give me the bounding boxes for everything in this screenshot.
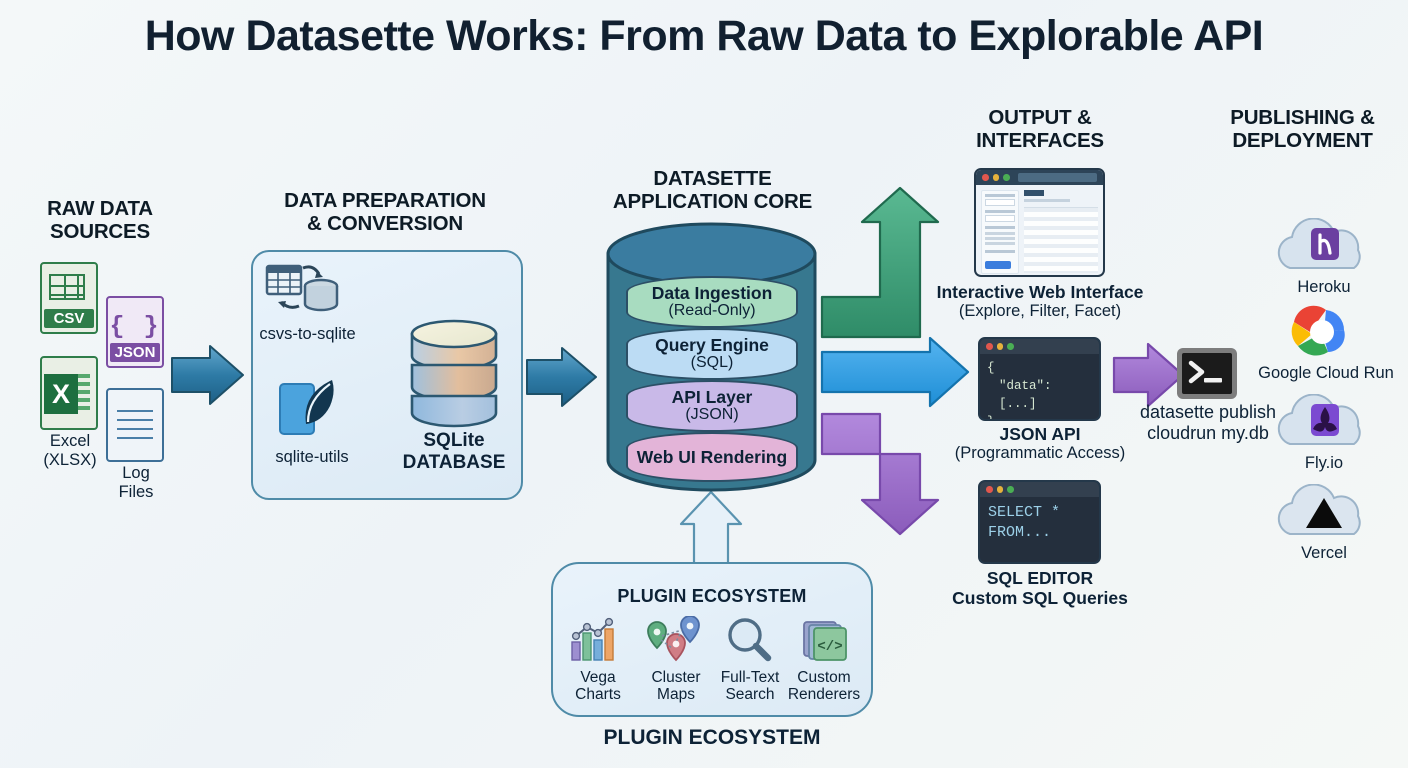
heroku-cloud-icon [1264, 218, 1384, 276]
maximize-dot-icon [1003, 174, 1010, 181]
flow-arrow-core-to-json [822, 338, 968, 406]
sql-editor-label: SQL EDITOR Custom SQL Queries [940, 568, 1140, 608]
maximize-dot-icon [1007, 486, 1014, 493]
log-file-icon [106, 388, 164, 462]
json-code-block: { "data": [...] } [980, 354, 1099, 421]
platform-label: Fly.io [1264, 454, 1384, 473]
flow-arrow-core-to-web-elbow [822, 215, 900, 297]
diagram-canvas: How Datasette Works: From Raw Data to Ex… [0, 0, 1408, 768]
platform-heroku[interactable]: Heroku [1264, 218, 1384, 297]
sqlite-utils-label: sqlite-utils [252, 448, 372, 467]
json-file-icon: { } JSON [106, 296, 164, 368]
core-layer-api: API Layer (JSON) [626, 380, 798, 432]
log-lines-glyph [117, 410, 153, 444]
flow-arrow-plugins-to-core [681, 492, 741, 573]
flow-arrow-core-to-sql [822, 414, 938, 534]
flow-arrow-prep-to-core [527, 348, 596, 406]
core-layer-web-ui: Web UI Rendering [626, 432, 798, 482]
json-api-label: JSON API (Programmatic Access) [930, 424, 1150, 463]
excel-file-icon: X [40, 356, 98, 430]
plugin-item-full-text-search[interactable]: Full-Text Search [708, 616, 792, 703]
results-table [1024, 190, 1098, 274]
code-stack-icon: </> [782, 616, 866, 666]
database-cylinder-icon [404, 312, 504, 432]
page-title: How Datasette Works: From Raw Data to Ex… [0, 12, 1408, 61]
cluster-map-pin-icon [634, 616, 718, 666]
plugin-label: Cluster Maps [634, 669, 718, 703]
section-heading-raw: RAW DATA SOURCES [10, 198, 190, 244]
magnifier-icon [708, 616, 792, 666]
close-dot-icon [982, 174, 989, 181]
plugin-label: Vega Charts [556, 669, 640, 703]
core-layer-data-ingestion: Data Ingestion (Read-Only) [626, 276, 798, 328]
maximize-dot-icon [1007, 343, 1014, 350]
plugin-label: Custom Renderers [782, 669, 866, 703]
web-interface-window-icon[interactable] [974, 168, 1105, 277]
section-heading-core: DATASETTE APPLICATION CORE [595, 168, 830, 214]
flow-arrow-json-to-publish [1114, 344, 1183, 406]
flyio-cloud-icon [1264, 394, 1384, 452]
window-body [976, 185, 1103, 277]
sql-window-titlebar [980, 482, 1099, 497]
terminal-prompt-icon[interactable] [1177, 348, 1237, 399]
minimize-dot-icon [997, 343, 1004, 350]
json-braces-glyph: { } [106, 312, 164, 341]
platform-label: Heroku [1264, 278, 1384, 297]
json-api-terminal-icon[interactable]: { "data": [...] } [978, 337, 1101, 421]
json-window-titlebar [980, 339, 1099, 354]
address-bar[interactable] [1018, 173, 1098, 182]
section-heading-prep: DATA PREPARATION & CONVERSION [260, 190, 510, 236]
plugin-panel-heading: PLUGIN ECOSYSTEM [551, 586, 873, 607]
terminal-screen [1182, 353, 1232, 394]
close-dot-icon [986, 486, 993, 493]
csv-file-icon: CSV [40, 262, 98, 334]
plugin-item-vega-charts[interactable]: Vega Charts [556, 616, 640, 703]
excel-x-glyph: X [44, 374, 78, 414]
json-file-tag: JSON [110, 343, 160, 362]
csv-grid-glyph [49, 274, 85, 300]
platform-google-cloud-run[interactable]: Google Cloud Run [1246, 302, 1406, 383]
platform-vercel[interactable]: Vercel [1264, 484, 1384, 563]
vercel-cloud-icon [1264, 484, 1384, 542]
core-layer-query-engine: Query Engine (SQL) [626, 328, 798, 380]
sql-editor-window-icon[interactable]: SELECT * FROM... [978, 480, 1101, 564]
table-to-database-icon [265, 262, 347, 320]
csvs-to-sqlite-label: csvs-to-sqlite [250, 325, 365, 344]
plugin-label: Full-Text Search [708, 669, 792, 703]
csv-file-tag: CSV [44, 309, 94, 328]
sqlite-feather-icon [278, 378, 346, 440]
vega-chart-icon [556, 616, 640, 666]
plugin-item-cluster-maps[interactable]: Cluster Maps [634, 616, 718, 703]
svg-text:</>: </> [817, 639, 842, 655]
platform-label: Google Cloud Run [1246, 364, 1406, 383]
google-cloud-icon [1246, 302, 1406, 362]
section-heading-output: OUTPUT & INTERFACES [930, 107, 1150, 153]
minimize-dot-icon [997, 486, 1004, 493]
section-heading-publish: PUBLISHING & DEPLOYMENT [1200, 107, 1405, 153]
core-layer-stack: Data Ingestion (Read-Only) Query Engine … [626, 276, 798, 482]
flow-arrow-core-to-web [822, 188, 938, 337]
flow-arrow-raw-to-prep [172, 346, 243, 404]
platform-label: Vercel [1264, 544, 1384, 563]
minimize-dot-icon [993, 174, 1000, 181]
window-titlebar [976, 170, 1103, 185]
plugin-item-custom-renderers[interactable]: </> Custom Renderers [782, 616, 866, 703]
sql-code-block: SELECT * FROM... [980, 497, 1099, 550]
log-file-label: Log Files [86, 464, 186, 502]
facet-sidebar [981, 190, 1019, 274]
plugin-ecosystem-bottom-caption: PLUGIN ECOSYSTEM [551, 726, 873, 750]
platform-flyio[interactable]: Fly.io [1264, 394, 1384, 473]
sqlite-database-label: SQLite DATABASE [392, 430, 516, 474]
close-dot-icon [986, 343, 993, 350]
web-interface-label: Interactive Web Interface (Explore, Filt… [924, 282, 1156, 321]
